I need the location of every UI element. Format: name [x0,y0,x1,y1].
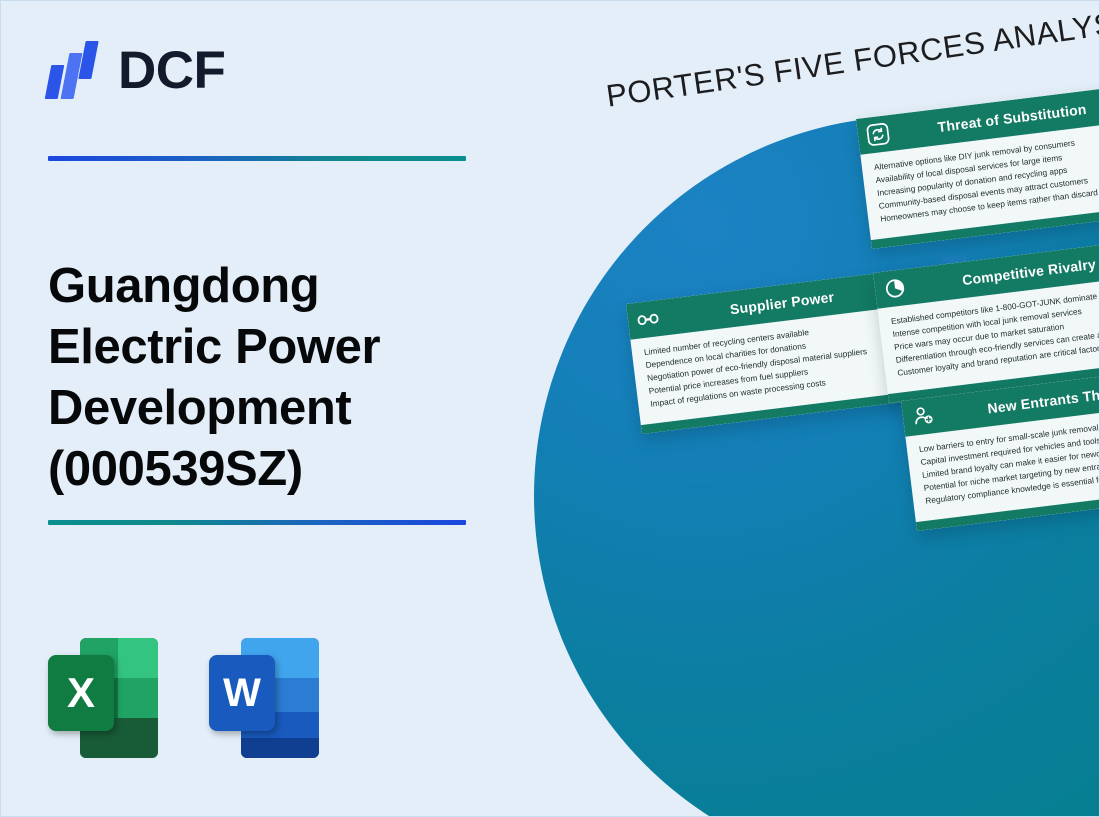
brand-name: DCF [118,44,225,97]
brand-logo[interactable]: DCF [48,41,225,99]
card-threat-of-substitution[interactable]: Threat of Substitution Alternative optio… [856,80,1100,249]
word-file-icon[interactable]: W [209,628,319,758]
pie-chart-icon [883,276,908,301]
recycle-arrows-icon [866,122,891,147]
excel-letter: X [67,672,95,714]
excel-file-icon[interactable]: X [48,628,158,758]
card-competitive-rivalry[interactable]: Competitive Rivalry Established competit… [873,234,1100,403]
person-add-icon [911,404,936,429]
excel-letter-tile: X [48,655,114,731]
download-icons: X W [48,628,319,758]
word-letter-tile: W [209,655,275,731]
title-panel: DCF Guangdong Electric Power Development… [1,1,531,817]
dcf-bars-logo-icon [48,41,104,99]
word-letter: W [223,673,261,713]
divider-bottom [48,520,466,525]
chain-link-icon [636,307,661,332]
page-title: Guangdong Electric Power Development (00… [48,256,478,500]
divider-top [48,156,466,161]
poster-canvas: PORTER'S FIVE FORCES ANALYSIS [0,0,1100,817]
